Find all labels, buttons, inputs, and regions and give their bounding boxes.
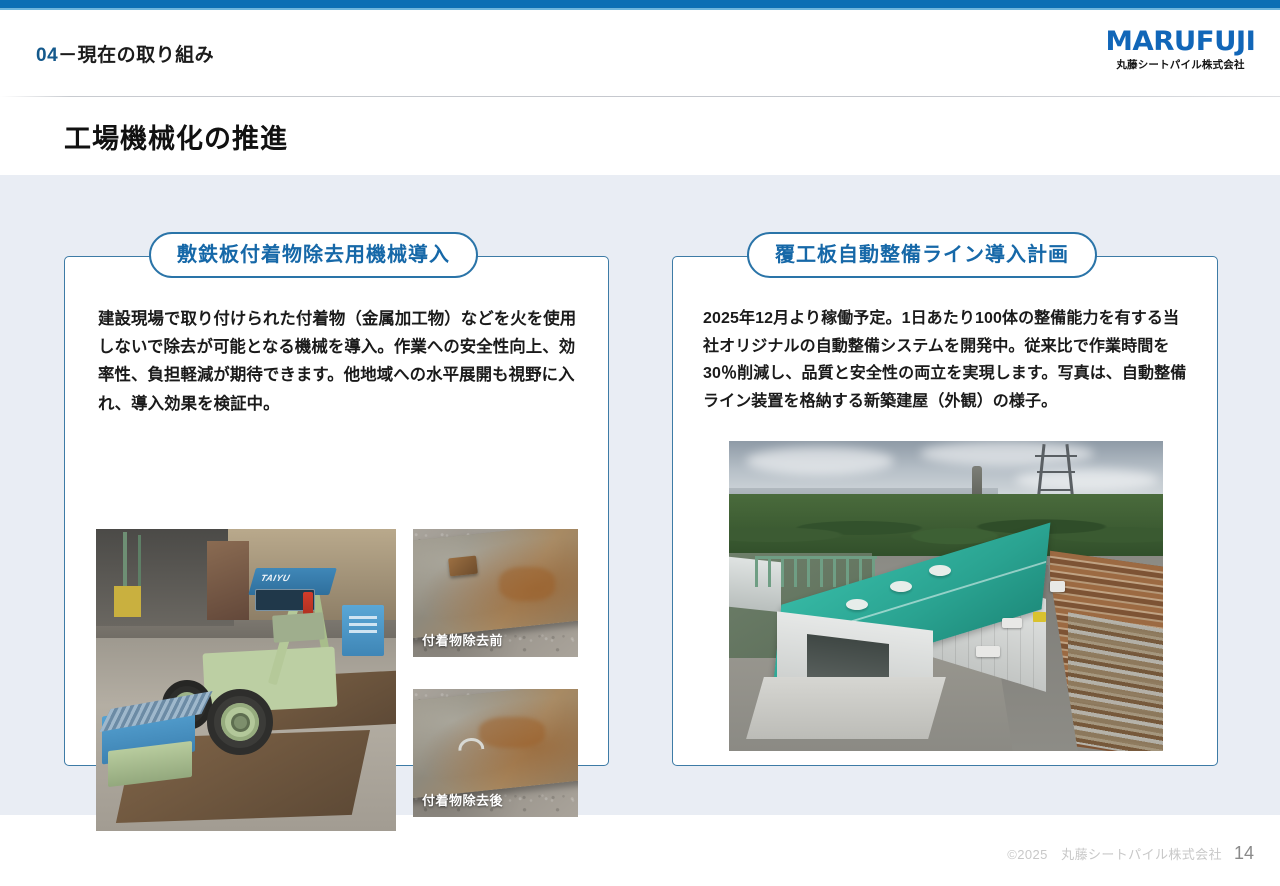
after-photo-caption: 付着物除去後 <box>422 790 503 809</box>
factory-photo-truck-3 <box>976 646 1000 657</box>
logo-company-name: 丸藤シートパイル株式会社 <box>1107 60 1254 71</box>
factory-photo-truck-2 <box>1002 618 1022 628</box>
page-title: 工場機械化の推進 <box>64 117 288 156</box>
factory-photo-steel-plate-stacks-front <box>1068 612 1163 751</box>
card-title-pill-left: 敷鉄板付着物除去用機械導入 <box>149 232 478 278</box>
factory-photo-truck-1 <box>1050 581 1065 592</box>
section-number: 04 <box>36 45 58 66</box>
machine-brand-label: TAIYU <box>260 573 291 583</box>
machine-photo-motor <box>272 612 325 643</box>
factory-photo-roof-vent-1 <box>929 565 951 576</box>
section-title: 現在の取り組み <box>78 45 215 66</box>
company-logo: MARUFUJI 丸藤シートパイル株式会社 <box>1107 28 1254 71</box>
section-separator: － <box>58 45 78 66</box>
machine-photo-wheel-hub <box>207 689 273 755</box>
page-number: 14 <box>1234 843 1254 864</box>
steel-plate-before-photo: 付着物除去前 <box>413 529 578 657</box>
before-photo-rust-patch <box>499 567 555 600</box>
section-label: 04－現在の取り組み <box>36 40 214 67</box>
card-title-left: 敷鉄板付着物除去用機械導入 <box>177 245 450 265</box>
machine-photo: TAIYU <box>96 529 396 831</box>
machine-photo-door <box>207 541 249 620</box>
card-body-right: 2025年12月より稼働予定。1日あたり100体の整備能力を有する当社オリジナル… <box>703 305 1193 415</box>
card-machine-introduction: 敷鉄板付着物除去用機械導入 建設現場で取り付けられた付着物（金属加工物）などを火… <box>64 256 609 766</box>
slide: 04－現在の取り組み MARUFUJI 丸藤シートパイル株式会社 工場機械化の推… <box>0 0 1280 886</box>
factory-aerial-photo <box>729 441 1163 751</box>
factory-photo-forklift <box>1033 612 1046 622</box>
header-divider <box>0 96 1280 97</box>
top-accent-bar <box>0 0 1280 8</box>
slide-footer: ©2025 丸藤シートパイル株式会社 14 <box>1007 843 1254 864</box>
factory-photo-cloud-1 <box>746 447 894 475</box>
card-automatic-line-plan: 覆工板自動整備ライン導入計画 2025年12月より稼働予定。1日あたり100体の… <box>672 256 1218 766</box>
logo-wordmark: MARUFUJI <box>1106 28 1256 55</box>
factory-photo-roof-vent-2 <box>890 581 912 592</box>
before-photo-caption: 付着物除去前 <box>422 630 503 649</box>
card-title-pill-right: 覆工板自動整備ライン導入計画 <box>747 232 1097 278</box>
before-photo-attachment-lug <box>448 556 478 577</box>
after-photo-rust-patch <box>479 717 545 748</box>
machine-photo-blue-box <box>342 605 384 656</box>
card-body-left: 建設現場で取り付けられた付着物（金属加工物）などを火を使用しないで除去が可能とな… <box>98 305 580 418</box>
card-title-right: 覆工板自動整備ライン導入計画 <box>775 245 1069 265</box>
copyright-text: ©2025 丸藤シートパイル株式会社 <box>1007 844 1222 863</box>
slide-header: 04－現在の取り組み MARUFUJI 丸藤シートパイル株式会社 <box>0 10 1280 96</box>
factory-photo-concrete-apron <box>746 677 946 739</box>
steel-plate-after-photo: 付着物除去後 <box>413 689 578 817</box>
machine-photo-yellow-equipment <box>114 586 141 616</box>
